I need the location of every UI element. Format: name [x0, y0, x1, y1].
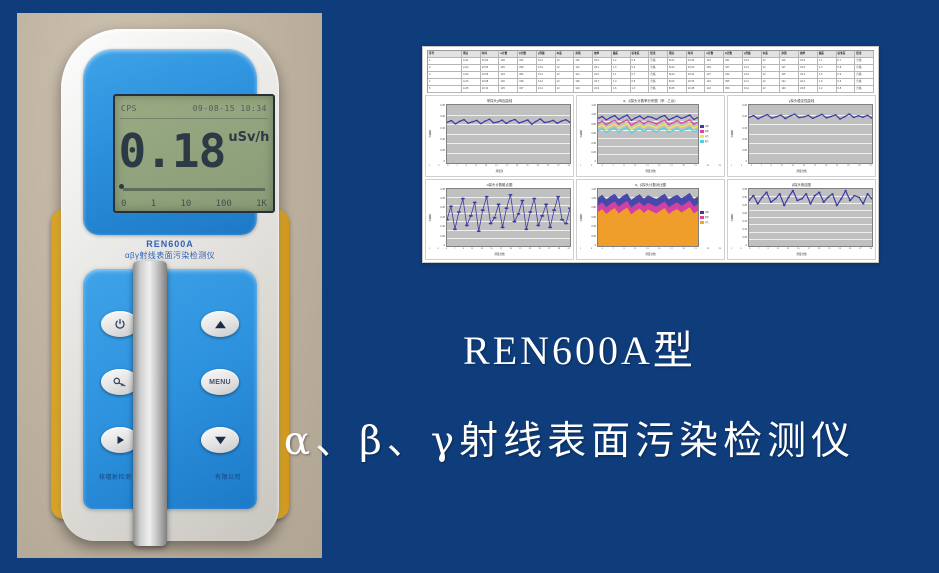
legend-label: α甲: [705, 124, 709, 128]
chart-x-axis-label: 测量次数: [730, 169, 873, 174]
table-cell: 116: [574, 58, 593, 65]
table-cell: 0.11: [743, 65, 762, 72]
page-title-description: α、β、γ射线表面污染检测仪: [0, 410, 939, 466]
device-subtitle-text: αβγ射线表面污染检测仪: [61, 250, 279, 261]
y-tick-label: 0.25: [736, 204, 747, 207]
chart-panel: 甲探头γ响应曲线计数率0.250.200.150.100.05013579111…: [425, 95, 574, 177]
table-cell: 119: [780, 58, 799, 65]
table-cell: 24.0: [593, 72, 612, 79]
table-cell: 合格: [855, 65, 874, 72]
table-header-cell: 时间: [687, 51, 706, 58]
table-cell: 127: [705, 72, 724, 79]
y-tick-label: 0.60: [585, 216, 596, 219]
table-row: 2A-0210:041263390.121211423.11.40.9合格B-0…: [428, 65, 874, 72]
legend-label: β乙: [705, 139, 709, 143]
table-cell: 10:04: [481, 65, 500, 72]
chart-x-axis-label: 测量次数: [579, 252, 722, 257]
table-cell: 1.1: [818, 58, 837, 65]
chart-y-ticks: 0.250.200.150.100.050: [434, 104, 446, 164]
table-cell: 352: [518, 72, 537, 79]
table-cell: 12: [556, 79, 575, 86]
table-cell: 12: [556, 72, 575, 79]
table-cell: 120: [780, 86, 799, 93]
chart-y-axis-label: 计数率: [428, 104, 434, 164]
legend-swatch: [700, 216, 704, 219]
table-cell: 12: [762, 79, 781, 86]
title-block: REN600A型 α、β、γ射线表面污染检测仪: [0, 318, 939, 466]
table-row: 序号测点时间α计数β计数γ剂量本底净值效率偏差标准差结论测点时间α计数β计数γ剂…: [428, 51, 874, 58]
table-cell: 339: [518, 65, 537, 72]
y-tick-label: 0.25: [434, 104, 445, 107]
silkscreen-text: 核辐射检测 有限公司: [83, 472, 257, 481]
legend-swatch: [700, 135, 704, 138]
table-header-cell: 净值: [780, 51, 799, 58]
chart-y-ticks: 0.250.200.150.100.050: [736, 104, 748, 164]
table-cell: 118: [574, 79, 593, 86]
y-tick-label: 0.20: [585, 151, 596, 154]
lcd-tick: 100: [216, 199, 232, 209]
legend-swatch: [700, 221, 704, 224]
table-cell: 2: [428, 65, 462, 72]
y-tick-label: 0.30: [434, 188, 445, 191]
y-tick-label: 0.20: [736, 115, 747, 118]
chart-series-layer: [447, 105, 570, 163]
chart-panel: α、β探头计数对比图计数率1.201.000.800.600.400.200α甲…: [576, 179, 725, 261]
legend-swatch: [700, 125, 704, 128]
table-cell: 0.11: [537, 86, 556, 93]
chart-y-axis-label: 计数率: [730, 104, 736, 164]
table-cell: 0.12: [537, 65, 556, 72]
chart-y-ticks: 0.300.250.200.150.100.050: [434, 188, 446, 248]
y-tick-label: 0.15: [736, 127, 747, 130]
table-cell: 114: [574, 65, 593, 72]
legend-label: β甲: [705, 129, 709, 133]
lcd-tick: 0: [121, 199, 126, 209]
lcd-tick: 10: [180, 199, 191, 209]
chart-x-axis-label: 测量次: [428, 169, 571, 174]
table-header-cell: 测点: [462, 51, 481, 58]
table-cell: 10:26: [687, 79, 706, 86]
chart-series-layer: [598, 105, 698, 163]
y-tick-label: 0.10: [434, 225, 445, 228]
table-header-cell: 本底: [556, 51, 575, 58]
lcd-screen: CPS 09-08-15 10:34 0.18 uSv/h 0 1 10 10: [113, 94, 275, 213]
chart-series-layer: [749, 189, 872, 247]
table-row: 1A-0110:021283440.111211623.41.20.8合格B-0…: [428, 58, 874, 65]
table-cell: 128: [499, 58, 518, 65]
table-cell: 337: [518, 86, 537, 93]
table-cell: B-02: [668, 65, 687, 72]
table-cell: 122: [780, 79, 799, 86]
table-cell: 0.8: [631, 58, 650, 65]
y-tick-label: 0.20: [434, 115, 445, 118]
chart-y-axis-label: 计数率: [730, 188, 736, 248]
y-tick-label: 0.25: [736, 104, 747, 107]
table-cell: 合格: [649, 65, 668, 72]
table-cell: 合格: [649, 86, 668, 93]
table-cell: 12: [762, 72, 781, 79]
table-cell: 0.11: [743, 79, 762, 86]
table-cell: 347: [724, 65, 743, 72]
table-cell: 5: [428, 86, 462, 93]
table-cell: 0.12: [743, 86, 762, 93]
chart-y-axis-label: 计数率: [579, 188, 585, 248]
table-cell: 23.9: [799, 58, 818, 65]
chart-series-layer: [749, 105, 872, 163]
table-cell: B-03: [668, 72, 687, 79]
chart-plot-area: [446, 188, 571, 248]
table-cell: 合格: [855, 72, 874, 79]
chart-x-axis-label: 测量次数: [730, 252, 873, 257]
table-cell: 1.1: [612, 72, 631, 79]
y-tick-label: 0.15: [434, 127, 445, 130]
table-cell: 133: [499, 72, 518, 79]
table-cell: 121: [574, 72, 593, 79]
lcd-bargraph: [123, 188, 265, 191]
table-row: 4A-0410:081303480.121211823.71.30.8合格B-0…: [428, 79, 874, 86]
table-header-cell: 结论: [649, 51, 668, 58]
table-cell: 23.1: [593, 65, 612, 72]
table-cell: 134: [705, 79, 724, 86]
table-header-cell: β计数: [518, 51, 537, 58]
table-cell: 合格: [855, 86, 874, 93]
table-cell: 合格: [649, 79, 668, 86]
table-cell: 113: [574, 86, 593, 93]
table-cell: A-02: [462, 65, 481, 72]
table-cell: 12: [762, 86, 781, 93]
table-cell: 1.6: [612, 86, 631, 93]
table-cell: 130: [499, 79, 518, 86]
table-cell: 342: [724, 72, 743, 79]
table-row: 5A-0510:101253370.111211322.91.61.0合格B-0…: [428, 86, 874, 93]
lcd-scale-ticks: 0 1 10 100 1K: [121, 199, 267, 209]
table-cell: 10:28: [687, 86, 706, 93]
table-header-cell: γ剂量: [743, 51, 762, 58]
table-cell: A-01: [462, 58, 481, 65]
chart-plot-area: [748, 104, 873, 164]
table-cell: 23.8: [799, 86, 818, 93]
table-cell: B-04: [668, 79, 687, 86]
table-row: 3A-0310:061333520.111212124.01.10.7合格B-0…: [428, 72, 874, 79]
table-cell: 125: [499, 86, 518, 93]
table-cell: 0.12: [743, 58, 762, 65]
silkscreen-left: 核辐射检测: [99, 472, 132, 481]
chart-legend: α甲β甲α乙: [699, 188, 722, 248]
table-header-cell: 标准差: [837, 51, 856, 58]
y-tick-label: 0.10: [434, 138, 445, 141]
table-cell: 351: [724, 58, 743, 65]
table-cell: 117: [780, 65, 799, 72]
table-header-cell: α计数: [705, 51, 724, 58]
table-header-cell: γ剂量: [537, 51, 556, 58]
table-cell: B-01: [668, 58, 687, 65]
table-cell: 合格: [855, 58, 874, 65]
chart-y-axis-label: 计数率: [428, 188, 434, 248]
table-cell: 10:20: [687, 58, 706, 65]
table-cell: 1.0: [818, 79, 837, 86]
table-cell: A-05: [462, 86, 481, 93]
lcd-status-right: 09-08-15 10:34: [193, 104, 267, 113]
table-cell: 23.5: [799, 65, 818, 72]
table-cell: 0.8: [837, 65, 856, 72]
lcd-value: 0.18: [119, 128, 226, 174]
table-cell: 1.0: [631, 86, 650, 93]
y-tick-label: 0.60: [585, 132, 596, 135]
table-cell: 23.7: [593, 79, 612, 86]
chart-x-axis-label: 测量次数: [428, 252, 571, 257]
table-header-cell: 序号: [428, 51, 462, 58]
table-header-cell: 本底: [762, 51, 781, 58]
chart-y-ticks: 0.350.300.250.200.150.100.050: [736, 188, 748, 248]
y-tick-label: 0.05: [736, 236, 747, 239]
legend-label: β甲: [705, 215, 709, 219]
chart-legend: α甲β甲α乙β乙: [699, 104, 722, 164]
charts-grid: 甲探头γ响应曲线计数率0.250.200.150.100.05013579111…: [425, 95, 876, 260]
legend-item: β甲: [700, 215, 722, 219]
y-tick-label: 0.20: [585, 235, 596, 238]
y-tick-label: 0.15: [736, 220, 747, 223]
table-header-cell: β计数: [724, 51, 743, 58]
y-tick-label: 1.00: [585, 113, 596, 116]
table-cell: B-05: [668, 86, 687, 93]
chart-panel: γ探头稳定性曲线计数率0.250.200.150.100.05013579111…: [727, 95, 876, 177]
table-cell: 合格: [649, 72, 668, 79]
y-tick-label: 0.80: [585, 123, 596, 126]
legend-item: β甲: [700, 129, 722, 133]
device-label: REN600A αβγ射线表面污染检测仪: [61, 239, 279, 261]
y-tick-label: 1.00: [585, 197, 596, 200]
table-cell: 0.9: [837, 72, 856, 79]
legend-label: α甲: [705, 210, 709, 214]
lcd-bezel: CPS 09-08-15 10:34 0.18 uSv/h 0 1 10 10: [83, 49, 257, 235]
legend-swatch: [700, 140, 704, 143]
y-tick-label: 0.30: [736, 196, 747, 199]
chart-series-layer: [598, 189, 698, 247]
legend-swatch: [700, 130, 704, 133]
table-cell: 1.2: [818, 86, 837, 93]
table-cell: 1.2: [612, 58, 631, 65]
table-header-cell: 结论: [855, 51, 874, 58]
table-cell: 12: [556, 58, 575, 65]
legend-item: α乙: [700, 134, 722, 138]
y-tick-label: 0.20: [434, 206, 445, 209]
table-cell: 10:02: [481, 58, 500, 65]
chart-panel: α探头计数散点图计数率0.300.250.200.150.100.0501357…: [425, 179, 574, 261]
table-cell: 1.3: [818, 65, 837, 72]
table-cell: 10:10: [481, 86, 500, 93]
table-cell: 0.11: [537, 58, 556, 65]
lcd-status-left: CPS: [121, 104, 137, 113]
table-cell: 12: [762, 58, 781, 65]
table-cell: 131: [705, 58, 724, 65]
y-tick-label: 0.15: [434, 216, 445, 219]
table-cell: 0.12: [743, 72, 762, 79]
table-cell: 0.8: [631, 79, 650, 86]
legend-item: α甲: [700, 210, 722, 214]
legend-item: β乙: [700, 139, 722, 143]
lcd-tick: 1K: [256, 199, 267, 209]
legend-label: α乙: [705, 220, 709, 224]
table-cell: 12: [556, 86, 575, 93]
chart-panel: α、β探头计数率分布图（甲 - 乙台）计数率1.201.000.800.600.…: [576, 95, 725, 177]
chart-y-ticks: 1.201.000.800.600.400.200: [585, 188, 597, 248]
silkscreen-right: 有限公司: [215, 472, 241, 481]
table-cell: 348: [518, 79, 537, 86]
table-header-cell: 时间: [481, 51, 500, 58]
table-cell: A-04: [462, 79, 481, 86]
lcd-tick: 1: [151, 199, 156, 209]
legend-item: α甲: [700, 124, 722, 128]
chart-series-layer: [447, 189, 570, 247]
page-title-model: REN600A型: [0, 318, 939, 376]
table-cell: 0.7: [631, 72, 650, 79]
table-cell: 23.4: [593, 58, 612, 65]
table-cell: 24.2: [799, 79, 818, 86]
lcd-reading: 0.18 uSv/h: [115, 122, 273, 180]
table-cell: 344: [518, 58, 537, 65]
table-cell: 115: [780, 72, 799, 79]
table-cell: 0.12: [537, 79, 556, 86]
table-cell: 23.2: [799, 72, 818, 79]
table-header-cell: 测点: [668, 51, 687, 58]
table-cell: 132: [705, 86, 724, 93]
y-tick-label: 0.35: [736, 188, 747, 191]
table-cell: 4: [428, 79, 462, 86]
table-cell: 12: [556, 65, 575, 72]
chart-x-axis-label: 测量次数: [579, 169, 722, 174]
y-tick-label: 0.40: [585, 142, 596, 145]
chart-plot-area: [748, 188, 873, 248]
y-tick-label: 0.80: [585, 206, 596, 209]
table-cell: 1.3: [612, 79, 631, 86]
lcd-status-bar: CPS 09-08-15 10:34: [121, 100, 267, 116]
device-model-text: REN600A: [61, 239, 279, 249]
table-cell: 0.9: [631, 65, 650, 72]
y-tick-label: 0.40: [585, 225, 596, 228]
y-tick-label: 0.05: [736, 149, 747, 152]
table-cell: 10:24: [687, 72, 706, 79]
data-table: 序号测点时间α计数β计数γ剂量本底净值效率偏差标准差结论测点时间α计数β计数γ剂…: [427, 50, 874, 93]
table-cell: 0.8: [837, 86, 856, 93]
table-cell: A-03: [462, 72, 481, 79]
table-header-cell: 标准差: [631, 51, 650, 58]
y-tick-label: 0.10: [736, 138, 747, 141]
table-cell: 355: [724, 79, 743, 86]
table-header-cell: α计数: [499, 51, 518, 58]
table-cell: 1: [428, 58, 462, 65]
table-cell: 1.4: [612, 65, 631, 72]
chart-plot-area: [597, 188, 699, 248]
legend-label: α乙: [705, 134, 709, 138]
legend-swatch: [700, 211, 704, 214]
table-header-cell: 效率: [799, 51, 818, 58]
y-tick-label: 1.20: [585, 188, 596, 191]
chart-y-axis-label: 计数率: [579, 104, 585, 164]
table-header-cell: 净值: [574, 51, 593, 58]
y-tick-label: 0.05: [434, 235, 445, 238]
table-cell: 合格: [649, 58, 668, 65]
y-tick-label: 1.20: [585, 104, 596, 107]
chart-y-ticks: 1.201.000.800.600.400.200: [585, 104, 597, 164]
table-cell: 129: [705, 65, 724, 72]
table-cell: 0.6: [837, 79, 856, 86]
table-cell: 10:08: [481, 79, 500, 86]
table-cell: 126: [499, 65, 518, 72]
y-tick-label: 0.05: [434, 149, 445, 152]
table-cell: 合格: [855, 79, 874, 86]
table-cell: 0.7: [837, 58, 856, 65]
chart-plot-area: [446, 104, 571, 164]
chart-plot-area: [597, 104, 699, 164]
table-cell: 350: [724, 86, 743, 93]
table-cell: 10:22: [687, 65, 706, 72]
table-cell: 1.5: [818, 72, 837, 79]
lcd-unit: uSv/h: [228, 130, 269, 145]
chart-panel: β探头响应图计数率0.350.300.250.200.150.100.05013…: [727, 179, 876, 261]
y-tick-label: 0.25: [434, 197, 445, 200]
table-cell: 10:06: [481, 72, 500, 79]
table-header-cell: 效率: [593, 51, 612, 58]
table-header-cell: 偏差: [818, 51, 837, 58]
table-cell: 22.9: [593, 86, 612, 93]
y-tick-label: 0.20: [736, 212, 747, 215]
table-header-cell: 偏差: [612, 51, 631, 58]
product-photo: CPS 09-08-15 10:34 0.18 uSv/h 0 1 10 10: [17, 13, 322, 558]
legend-item: α乙: [700, 220, 722, 224]
report-screenshot: 序号测点时间α计数β计数γ剂量本底净值效率偏差标准差结论测点时间α计数β计数γ剂…: [422, 46, 879, 263]
table-cell: 3: [428, 72, 462, 79]
y-tick-label: 0.10: [736, 228, 747, 231]
lcd-divider: [120, 118, 268, 119]
table-cell: 12: [762, 65, 781, 72]
table-cell: 0.11: [537, 72, 556, 79]
